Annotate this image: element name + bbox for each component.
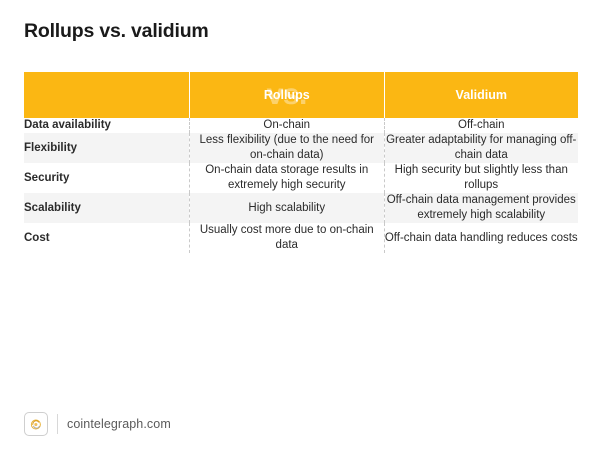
table-row: Cost Usually cost more due to on-chain d… xyxy=(24,223,578,253)
cell-rollups-security: On-chain data storage results in extreme… xyxy=(190,163,385,193)
row-label-scalability: Scalability xyxy=(24,193,190,223)
table-header-row: Rollups vs. Validium xyxy=(24,72,578,118)
row-label-cost: Cost xyxy=(24,223,190,253)
table-row: Scalability High scalability Off-chain d… xyxy=(24,193,578,223)
footer-divider xyxy=(57,414,58,434)
table-row: Flexibility Less flexibility (due to the… xyxy=(24,133,578,163)
cell-rollups-scalability: High scalability xyxy=(190,193,385,223)
row-label-security: Security xyxy=(24,163,190,193)
cell-validium-data-availability: Off-chain xyxy=(384,118,578,133)
cell-rollups-data-availability: On-chain xyxy=(190,118,385,133)
header-cell-validium: Validium xyxy=(384,72,578,118)
footer-brand-label: cointelegraph.com xyxy=(67,417,171,431)
row-label-data-availability: Data availability xyxy=(24,118,190,133)
cell-validium-flexibility: Greater adaptability for managing off-ch… xyxy=(384,133,578,163)
header-label-validium: Validium xyxy=(456,88,507,102)
page-title: Rollups vs. validium xyxy=(24,20,209,43)
cell-validium-scalability: Off-chain data management provides extre… xyxy=(384,193,578,223)
cell-rollups-cost: Usually cost more due to on-chain data xyxy=(190,223,385,253)
table-row: Data availability On-chain Off-chain xyxy=(24,118,578,133)
header-cell-blank xyxy=(24,72,190,118)
infographic-page: Rollups vs. validium Rollups vs. Validiu… xyxy=(0,0,600,460)
cointelegraph-logo-icon xyxy=(24,412,48,436)
comparison-table: Rollups vs. Validium Data availability O… xyxy=(24,72,578,253)
header-cell-rollups: Rollups vs. xyxy=(190,72,385,118)
cell-validium-security: High security but slightly less than rol… xyxy=(384,163,578,193)
row-label-flexibility: Flexibility xyxy=(24,133,190,163)
comparison-table-container: Rollups vs. Validium Data availability O… xyxy=(24,72,576,253)
table-row: Security On-chain data storage results i… xyxy=(24,163,578,193)
header-label-rollups: Rollups xyxy=(264,88,310,102)
cell-rollups-flexibility: Less flexibility (due to the need for on… xyxy=(190,133,385,163)
cell-validium-cost: Off-chain data handling reduces costs xyxy=(384,223,578,253)
footer: cointelegraph.com xyxy=(24,412,171,436)
